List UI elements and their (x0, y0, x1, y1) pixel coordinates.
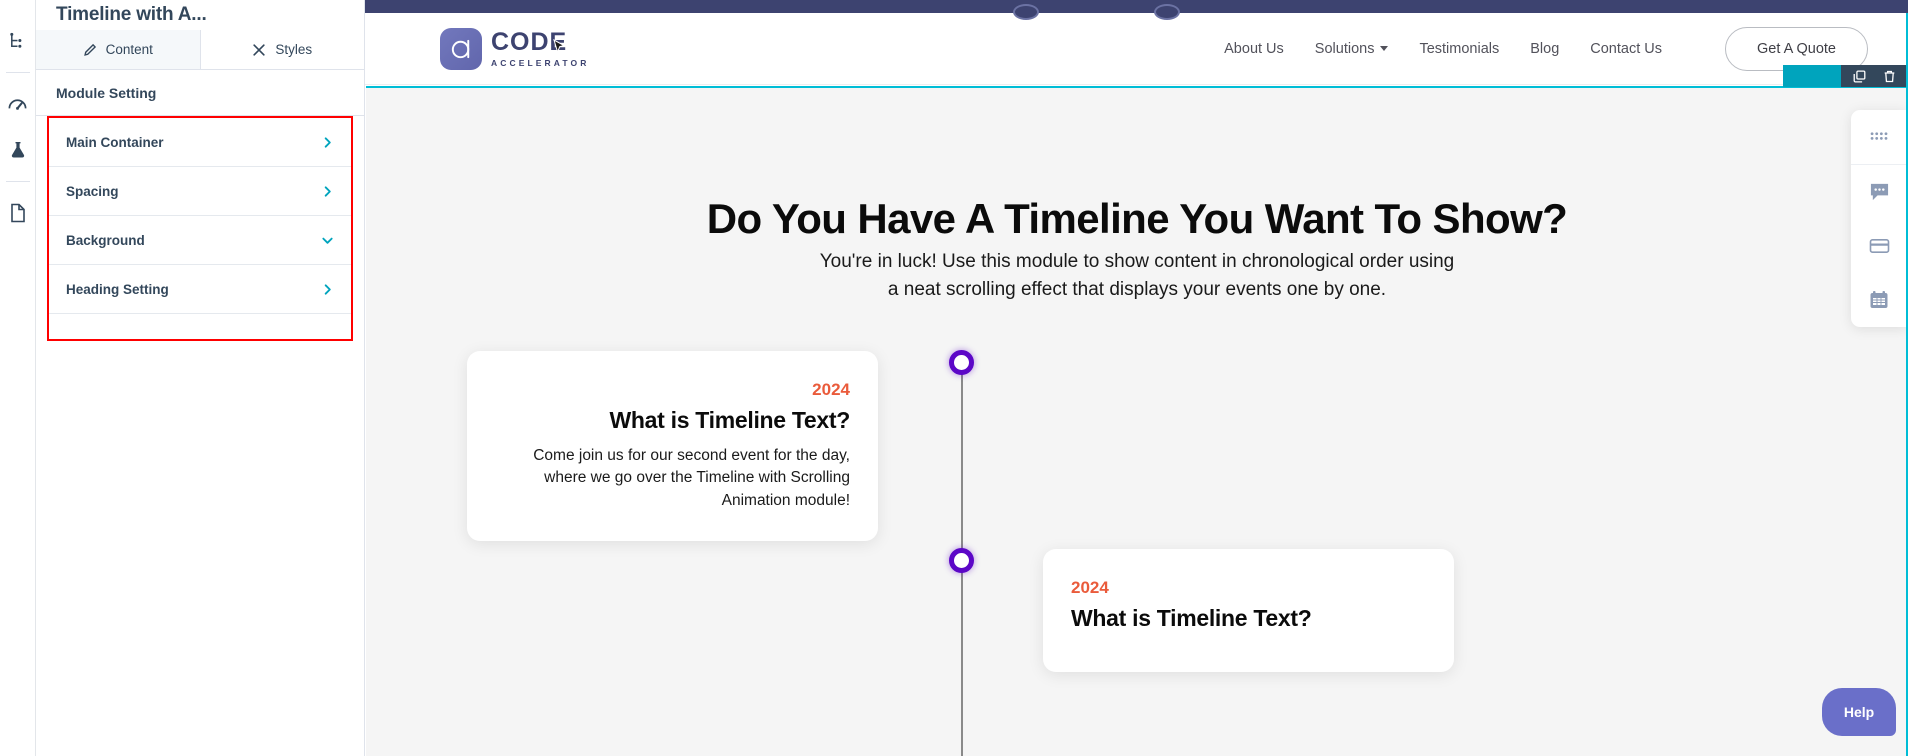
accordion-label: Background (66, 233, 145, 248)
tab-content[interactable]: Content (36, 30, 201, 69)
chevron-right-icon[interactable] (321, 185, 334, 198)
rail-divider (6, 72, 30, 73)
timeline-heading: What is Timeline Text? (1071, 605, 1426, 632)
timeline-year: 2024 (1071, 578, 1426, 598)
accordion-spacer (49, 314, 351, 339)
help-button[interactable]: Help (1822, 688, 1896, 736)
highlighted-accordion-group: Main Container Spacing Background Headin… (47, 116, 353, 341)
section-heading: Module Setting (36, 70, 364, 116)
accordion-label: Main Container (66, 135, 164, 150)
get-a-quote-button[interactable]: Get A Quote (1725, 27, 1868, 71)
chevron-right-icon[interactable] (321, 283, 334, 296)
preview-canvas: CODE ACCELERATOR About Us Solutions (365, 0, 1908, 756)
timeline-heading: What is Timeline Text? (495, 407, 850, 434)
editor-app: Timeline with A... Content Styles (0, 0, 1908, 756)
duplicate-icon[interactable] (1853, 70, 1866, 83)
left-icon-rail (0, 0, 36, 756)
nav-contact-us[interactable]: Contact Us (1590, 41, 1662, 57)
a-circle-icon (440, 28, 482, 70)
timeline-card[interactable]: 2024 What is Timeline Text? (1043, 549, 1454, 672)
tab-content-label: Content (106, 42, 153, 57)
logo-text: CODE ACCELERATOR (491, 30, 589, 68)
brush-icon (252, 43, 266, 57)
logo-subtitle: ACCELERATOR (491, 59, 589, 68)
calendar-icon[interactable] (1851, 273, 1907, 327)
timeline-marker (949, 548, 974, 573)
module-settings-panel: Timeline with A... Content Styles (36, 0, 365, 756)
grid-dots-icon[interactable] (1851, 110, 1907, 164)
timeline-body: Come join us for our second event for th… (495, 445, 850, 512)
accordion-label: Heading Setting (66, 282, 169, 297)
hero-subtitle: You're in luck! Use this module to show … (817, 248, 1457, 303)
chat-bubble-icon[interactable] (1851, 165, 1907, 219)
timeline-card[interactable]: 2024 What is Timeline Text? Come join us… (467, 351, 878, 541)
mouse-cursor-icon (553, 34, 566, 59)
nav-blog[interactable]: Blog (1530, 41, 1559, 57)
flask-icon[interactable] (0, 127, 36, 173)
document-icon[interactable] (0, 190, 36, 236)
floating-widget-panel (1851, 110, 1907, 327)
topbar-pill-2 (1154, 4, 1180, 20)
accordion-background[interactable]: Background (49, 216, 351, 265)
site-nav: About Us Solutions Testimonials Blog Con… (1224, 27, 1868, 71)
card-icon[interactable] (1851, 219, 1907, 273)
panel-title: Timeline with A... (36, 0, 364, 30)
hero-title: Do You Have A Timeline You Want To Show? (366, 195, 1908, 243)
accordion-main-container[interactable]: Main Container (49, 118, 351, 167)
gauge-icon[interactable] (0, 81, 36, 127)
selected-module-frame: Do You Have A Timeline You Want To Show?… (366, 86, 1908, 756)
timeline-marker (949, 350, 974, 375)
chevron-right-icon[interactable] (321, 136, 334, 149)
tab-styles-label: Styles (275, 42, 312, 57)
topbar-pill-1 (1013, 4, 1039, 20)
site-logo[interactable]: CODE ACCELERATOR (440, 28, 589, 70)
chevron-down-icon[interactable] (321, 234, 334, 247)
rail-divider-2 (6, 181, 30, 182)
caret-down-icon (1380, 46, 1388, 51)
pencil-icon (83, 43, 97, 57)
accordion-label: Spacing (66, 184, 119, 199)
tab-styles[interactable]: Styles (201, 30, 365, 69)
module-actions (1841, 65, 1908, 87)
nav-testimonials[interactable]: Testimonials (1419, 41, 1499, 57)
timeline-year: 2024 (495, 380, 850, 400)
accordion-spacing[interactable]: Spacing (49, 167, 351, 216)
module-toolbar (1783, 65, 1908, 87)
site-top-bar (365, 0, 1908, 13)
accordion-heading-setting[interactable]: Heading Setting (49, 265, 351, 314)
panel-tabs: Content Styles (36, 30, 364, 70)
nav-about-us[interactable]: About Us (1224, 41, 1284, 57)
nav-solutions[interactable]: Solutions (1315, 41, 1389, 57)
site-header: CODE ACCELERATOR About Us Solutions (365, 13, 1908, 85)
trash-icon[interactable] (1883, 70, 1896, 83)
hierarchy-icon[interactable] (0, 18, 36, 64)
module-drag-handle[interactable] (1783, 65, 1841, 87)
logo-word: CODE (491, 30, 589, 55)
